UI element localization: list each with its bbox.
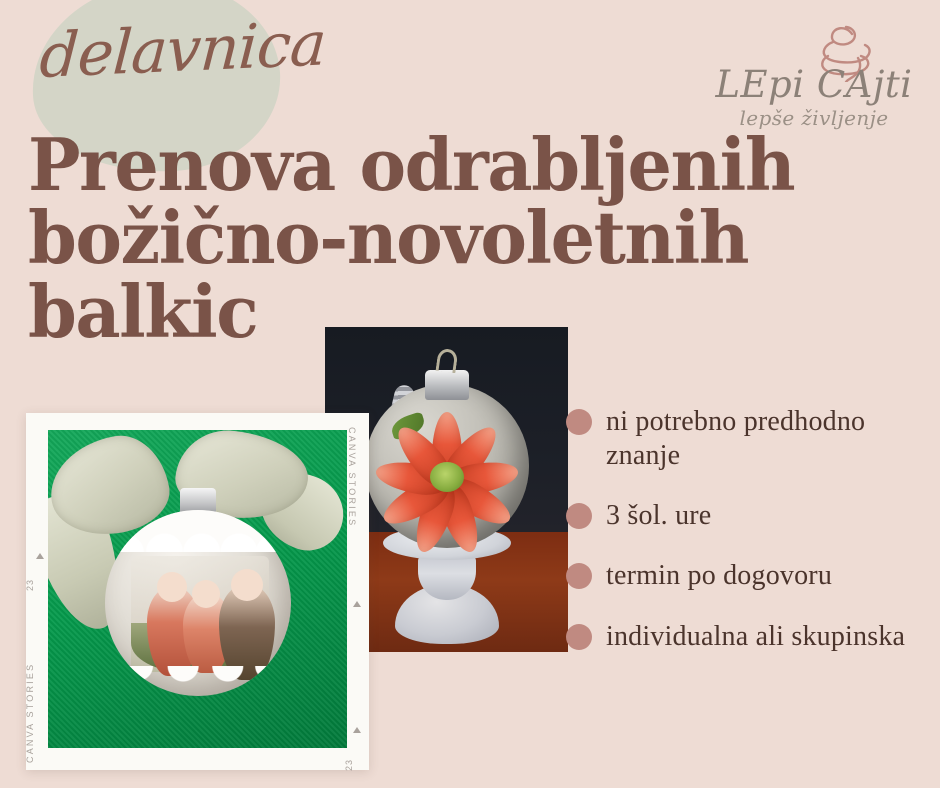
- bauble-sphere: [105, 510, 291, 696]
- list-item-label: ni potrebno predhodno znanje: [606, 405, 934, 473]
- eyebrow-label: delavnica: [38, 13, 327, 87]
- list-item-label: individualna ali skupinska: [606, 620, 905, 654]
- list-item-label: 3 šol. ure: [606, 499, 711, 533]
- photo-decoupage-bauble-frame: 23 CANVA STORIES CANVA STORIES 23: [26, 413, 369, 770]
- decoupage-scene: [131, 556, 269, 672]
- logo-name: LEpi CAjti: [714, 66, 914, 103]
- scene-figure-head: [192, 580, 220, 608]
- page-title: Prenova odrabljenih božično-novoletnih b…: [28, 128, 843, 348]
- poinsettia-center: [430, 462, 464, 492]
- list-item: termin po dogovoru: [566, 559, 934, 593]
- frame-number-top-left: 23: [25, 579, 35, 591]
- lace-trim-bottom: [105, 666, 291, 696]
- scene-figure-head: [157, 572, 187, 602]
- frame-number-bottom-right: 23: [344, 759, 354, 771]
- headline-line-1: Prenova odrabljenih: [28, 128, 843, 201]
- headline-line-2: božično-novoletnih: [28, 201, 843, 274]
- poster-canvas: delavnica LEpi CAjti lepše življenje Pre…: [0, 0, 940, 788]
- list-item: 3 šol. ure: [566, 499, 934, 533]
- frame-label-left: CANVA STORIES: [25, 663, 35, 763]
- list-item: individualna ali skupinska: [566, 620, 934, 654]
- frame-triangle-icon: [353, 601, 361, 607]
- lace-trim-top: [105, 510, 291, 552]
- scene-figure-head: [231, 569, 263, 601]
- photo-image-area: [48, 430, 347, 748]
- feature-list: ni potrebno predhodno znanje 3 šol. ure …: [566, 405, 934, 680]
- bullet-dot-icon: [566, 503, 592, 529]
- brand-logo: LEpi CAjti lepše življenje: [714, 22, 914, 132]
- bullet-dot-icon: [566, 563, 592, 589]
- list-item: ni potrebno predhodno znanje: [566, 405, 934, 473]
- frame-triangle-icon: [353, 727, 361, 733]
- bullet-dot-icon: [566, 624, 592, 650]
- list-item-label: termin po dogovoru: [606, 559, 832, 593]
- frame-triangle-icon: [36, 553, 44, 559]
- frame-label-right: CANVA STORIES: [347, 427, 357, 527]
- bauble-cap: [425, 370, 469, 400]
- bullet-dot-icon: [566, 409, 592, 435]
